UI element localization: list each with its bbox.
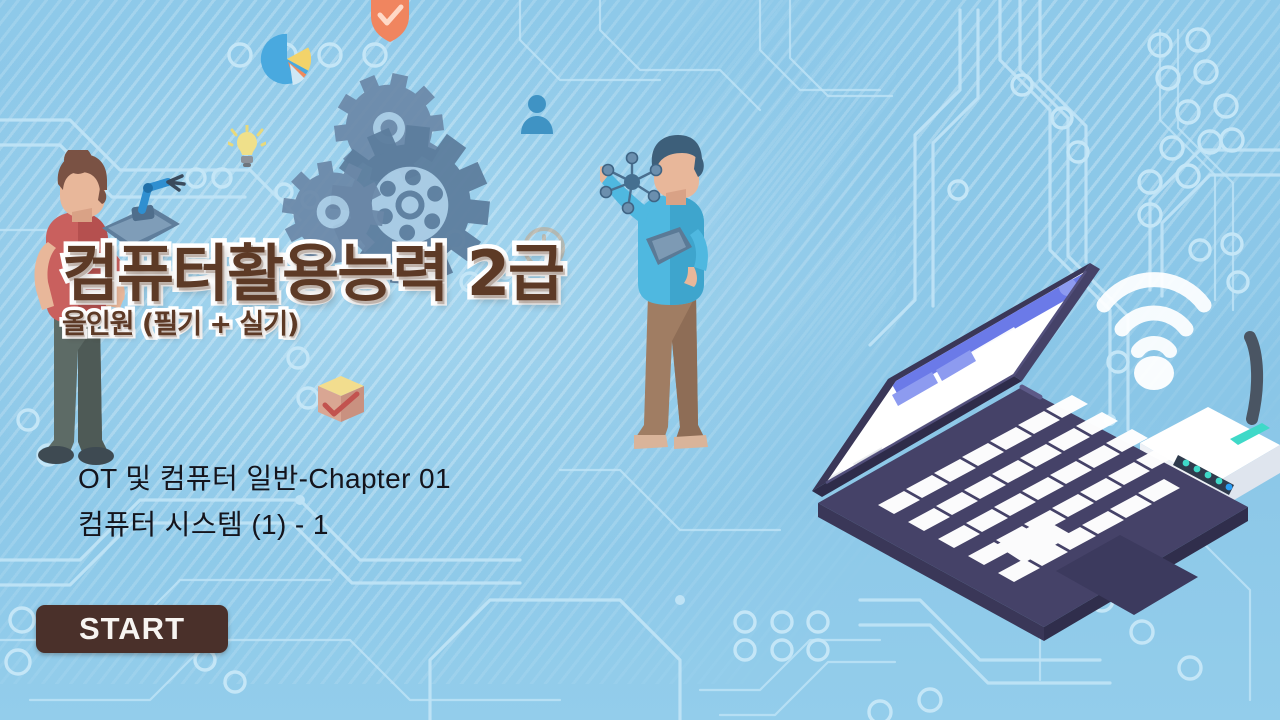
slide-root: 컴퓨터활용능력 2급 올인원 (필기 + 실기) OT 및 컴퓨터 일반-Cha… xyxy=(0,0,1280,720)
tablet-device-icon xyxy=(640,225,698,283)
chapter-line-2: 컴퓨터 시스템 (1) - 1 xyxy=(78,502,451,548)
isometric-laptop-scene xyxy=(800,215,1280,645)
sidebar-app-icons xyxy=(855,548,877,594)
chapter-info: OT 및 컴퓨터 일반-Chapter 01 컴퓨터 시스템 (1) - 1 xyxy=(78,456,451,548)
shield-check-icon xyxy=(368,0,412,44)
page-title: 컴퓨터활용능력 2급 xyxy=(62,243,563,305)
chapter-line-1: OT 및 컴퓨터 일반-Chapter 01 xyxy=(78,456,451,502)
wifi-icon xyxy=(1104,280,1204,390)
package-box-check-icon xyxy=(314,372,368,428)
network-nodes-icon xyxy=(596,148,668,220)
lightbulb-idea-icon xyxy=(228,125,266,175)
start-button[interactable]: START xyxy=(36,605,228,653)
title-block: 컴퓨터활용능력 2급 올인원 (필기 + 실기) xyxy=(62,243,563,338)
page-subtitle: 올인원 (필기 + 실기) xyxy=(62,311,563,338)
